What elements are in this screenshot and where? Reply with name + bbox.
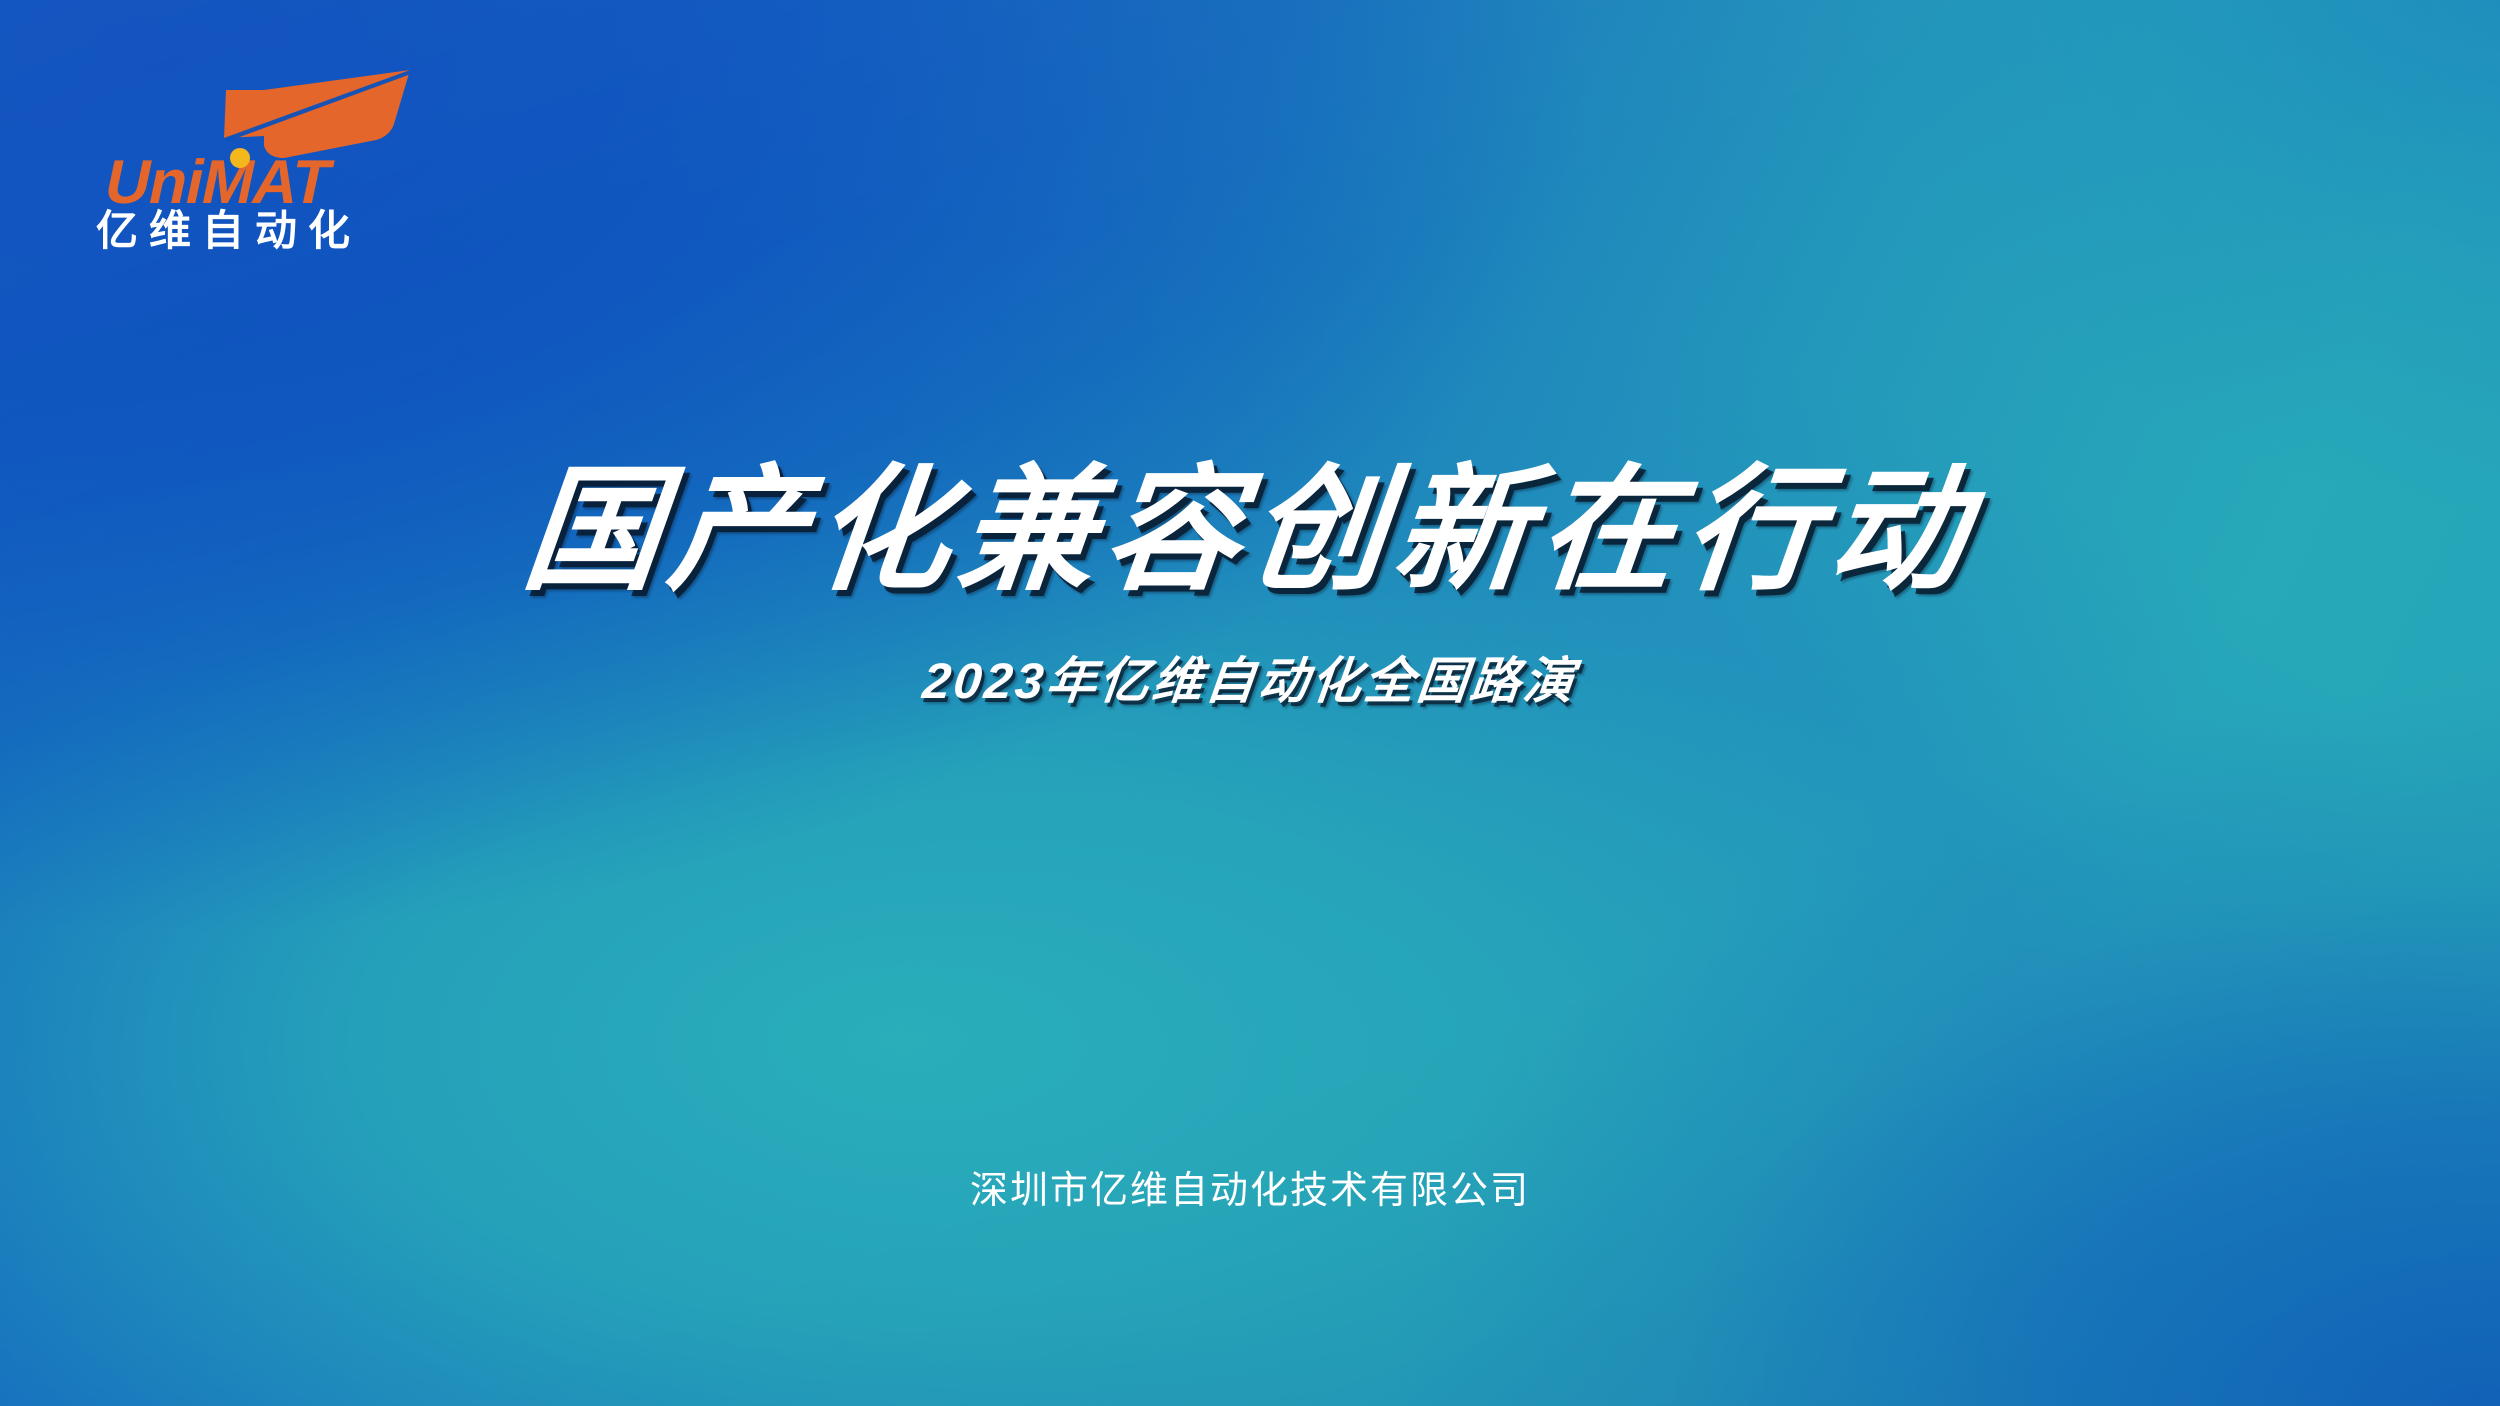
company-logo: UniMAT 亿维自动化 (92, 68, 562, 268)
logo-chinese-name: 亿维自动化 (96, 210, 361, 252)
unimat-swoosh-mark (198, 68, 418, 158)
title-block: 国产化兼容创新在行动 2023年亿维自动化全国路演 (0, 452, 2500, 706)
footer-company-name: 深圳市亿维自动化技术有限公司 (970, 1172, 1530, 1210)
unimat-i-dot (230, 148, 250, 168)
slide-subtitle: 2023年亿维自动化全国路演 (921, 656, 1579, 706)
presentation-slide: UniMAT 亿维自动化 国产化兼容创新在行动 2023年亿维自动化全国路演 深… (0, 0, 2500, 1406)
footer-block: 深圳市亿维自动化技术有限公司 (0, 1172, 2500, 1210)
slide-main-title: 国产化兼容创新在行动 (517, 452, 1984, 610)
